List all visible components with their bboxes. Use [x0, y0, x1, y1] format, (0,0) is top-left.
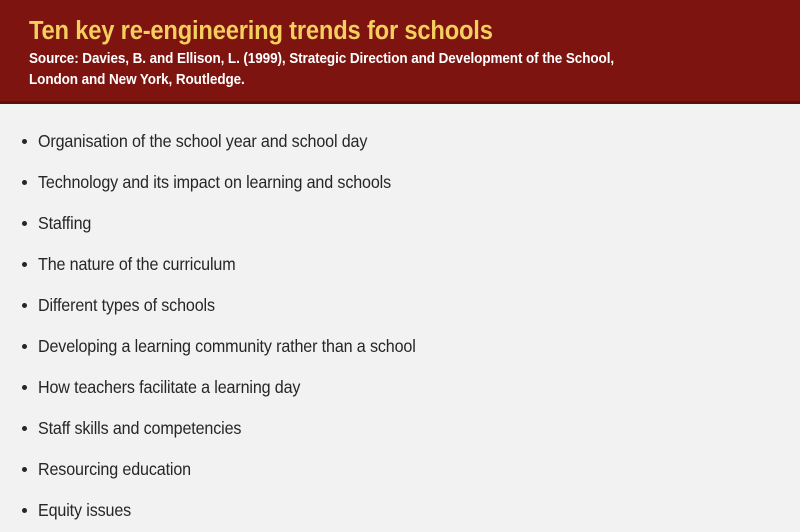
bullet-icon: [22, 221, 27, 226]
figure-source-citation: Source: Davies, B. and Ellison, L. (1999…: [29, 48, 701, 90]
list-item-label: How teachers facilitate a learning day: [38, 367, 300, 408]
list-item-label: Developing a learning community rather t…: [38, 326, 416, 367]
trends-list: Organisation of the school year and scho…: [0, 121, 800, 531]
source-line-1: Source: Davies, B. and Ellison, L. (1999…: [29, 48, 701, 69]
bullet-icon: [22, 508, 27, 513]
list-item-label: The nature of the curriculum: [38, 244, 235, 285]
list-item-label: Different types of schools: [38, 285, 215, 326]
list-item-label: Staff skills and competencies: [38, 408, 241, 449]
list-item-label: Equity issues: [38, 490, 131, 531]
bullet-icon: [22, 180, 27, 185]
bullet-icon: [22, 467, 27, 472]
bullet-icon: [22, 262, 27, 267]
figure-title: Ten key re-engineering trends for school…: [29, 16, 724, 46]
list-item: Organisation of the school year and scho…: [0, 121, 800, 162]
list-item: Equity issues: [0, 490, 800, 531]
figure-body: Organisation of the school year and scho…: [0, 104, 800, 532]
bullet-icon: [22, 385, 27, 390]
list-item: Staff skills and competencies: [0, 408, 800, 449]
bullet-icon: [22, 426, 27, 431]
list-item: The nature of the curriculum: [0, 244, 800, 285]
source-line-2: London and New York, Routledge.: [29, 69, 701, 90]
bullet-icon: [22, 303, 27, 308]
trends-figure: Ten key re-engineering trends for school…: [0, 0, 800, 532]
figure-header-band: Ten key re-engineering trends for school…: [0, 0, 800, 104]
list-item: Developing a learning community rather t…: [0, 326, 800, 367]
list-item-label: Technology and its impact on learning an…: [38, 162, 391, 203]
list-item: Technology and its impact on learning an…: [0, 162, 800, 203]
list-item-label: Organisation of the school year and scho…: [38, 121, 367, 162]
bullet-icon: [22, 139, 27, 144]
list-item-label: Resourcing education: [38, 449, 191, 490]
list-item: How teachers facilitate a learning day: [0, 367, 800, 408]
list-item: Staffing: [0, 203, 800, 244]
bullet-icon: [22, 344, 27, 349]
list-item: Resourcing education: [0, 449, 800, 490]
list-item: Different types of schools: [0, 285, 800, 326]
list-item-label: Staffing: [38, 203, 91, 244]
